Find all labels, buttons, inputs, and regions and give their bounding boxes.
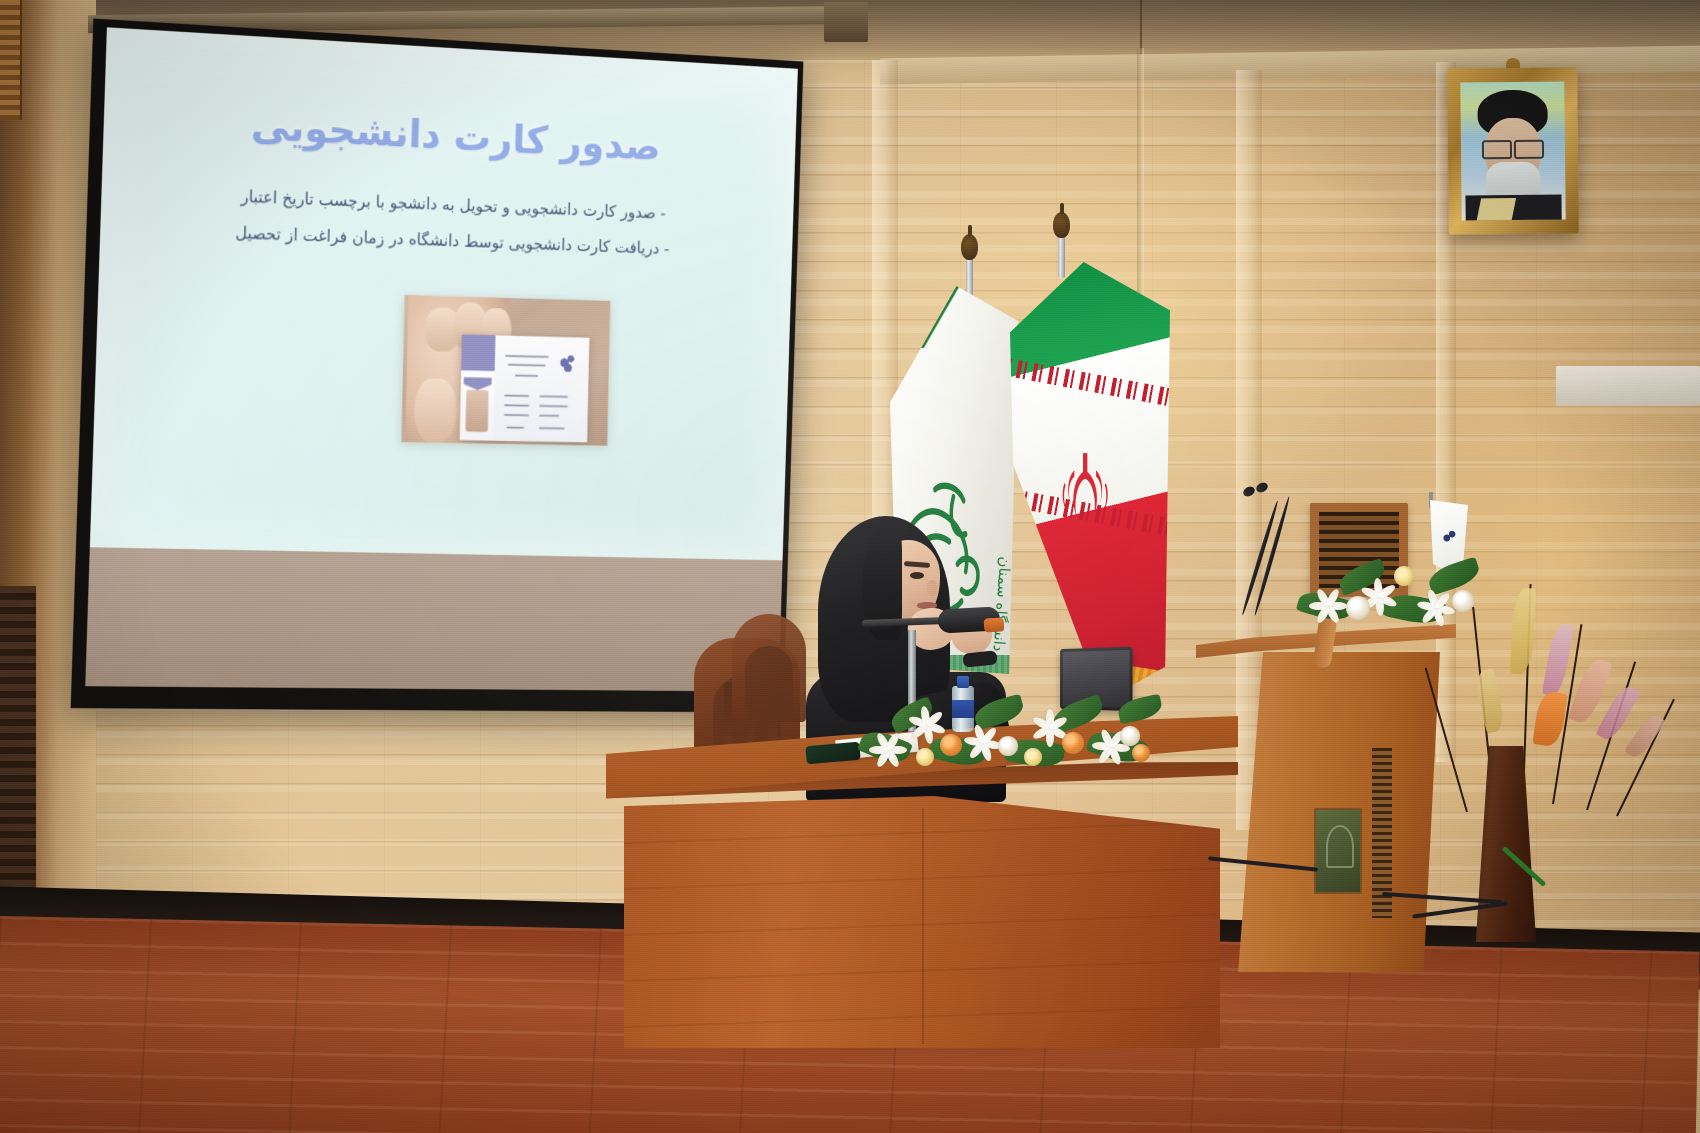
portrait-shawl — [1476, 198, 1516, 221]
wristwatch — [962, 650, 997, 667]
portrait-image — [1460, 81, 1565, 220]
dried-spray — [1510, 587, 1536, 674]
id-card-field-line — [539, 427, 564, 429]
podium — [1196, 608, 1456, 978]
right-wall-panel — [1556, 366, 1700, 406]
dried-spray — [1474, 669, 1506, 734]
desk-flower-garland — [856, 686, 1156, 794]
id-card-field-line — [504, 414, 529, 416]
lecture-hall-photo: صدور کارت دانشجویی - صدور کارت دانشجویی … — [0, 0, 1700, 1133]
desk-panel-seam — [922, 808, 924, 1044]
left-wood-trim — [0, 0, 22, 120]
lily-flower — [868, 726, 908, 766]
nose — [927, 580, 938, 596]
lily-flower — [964, 720, 1002, 758]
rose-flower — [916, 748, 934, 766]
projected-slide: صدور کارت دانشجویی - صدور کارت دانشجویی … — [90, 27, 798, 560]
student-id-card-photo — [402, 295, 611, 446]
iran-emblem-icon — [1058, 451, 1112, 526]
id-card-field-line — [540, 405, 568, 407]
rose-flower — [1132, 744, 1150, 762]
id-card-portrait — [465, 390, 489, 433]
rose-flower — [1024, 748, 1042, 766]
id-card — [460, 335, 589, 443]
chair-back-rear — [732, 614, 806, 722]
id-card-field-line — [540, 415, 560, 417]
thumb-icon — [414, 378, 457, 443]
rose-flower — [1062, 732, 1084, 754]
screen-unlit-area — [85, 548, 782, 692]
framed-leader-portrait — [1447, 67, 1579, 234]
rose-flower — [1120, 726, 1140, 746]
eye — [910, 572, 924, 579]
rose-flower — [998, 736, 1018, 756]
rose-flower — [1346, 596, 1370, 620]
podium-plaque — [1314, 808, 1362, 894]
id-card-text-line — [515, 374, 538, 376]
slide-bullet-list: - صدور کارت دانشجویی و تحویل به دانشجو ب… — [151, 175, 748, 270]
id-card-text-line — [505, 355, 548, 358]
rose-flower — [1394, 566, 1414, 586]
screen-surface: صدور کارت دانشجویی - صدور کارت دانشجویی … — [85, 27, 798, 691]
dried-flower-sprays — [1440, 566, 1690, 826]
projection-screen: صدور کارت دانشجویی - صدور کارت دانشجویی … — [71, 18, 804, 712]
id-card-logo-icon — [553, 347, 581, 375]
id-card-text-line — [508, 364, 546, 367]
dried-spray — [1542, 623, 1574, 697]
id-card-field-line — [504, 395, 529, 397]
lily-flower — [1308, 582, 1348, 622]
iran-flag-pole — [1058, 232, 1065, 278]
id-card-photo-strip — [460, 335, 496, 441]
flag-finial-icon — [1053, 212, 1070, 238]
kufic-band-top — [1000, 357, 1186, 408]
flag-finial-icon — [961, 234, 978, 260]
id-card-field-line — [504, 405, 529, 407]
rose-flower — [940, 734, 962, 756]
id-card-field-line — [540, 396, 568, 399]
id-card-field-line — [506, 427, 524, 429]
microphone-tip — [984, 617, 1005, 632]
screen-mount-bracket — [824, 2, 868, 42]
glasses-icon — [1482, 140, 1545, 156]
slide-title: صدور کارت دانشجویی — [103, 95, 796, 176]
lily-flower — [910, 704, 944, 738]
